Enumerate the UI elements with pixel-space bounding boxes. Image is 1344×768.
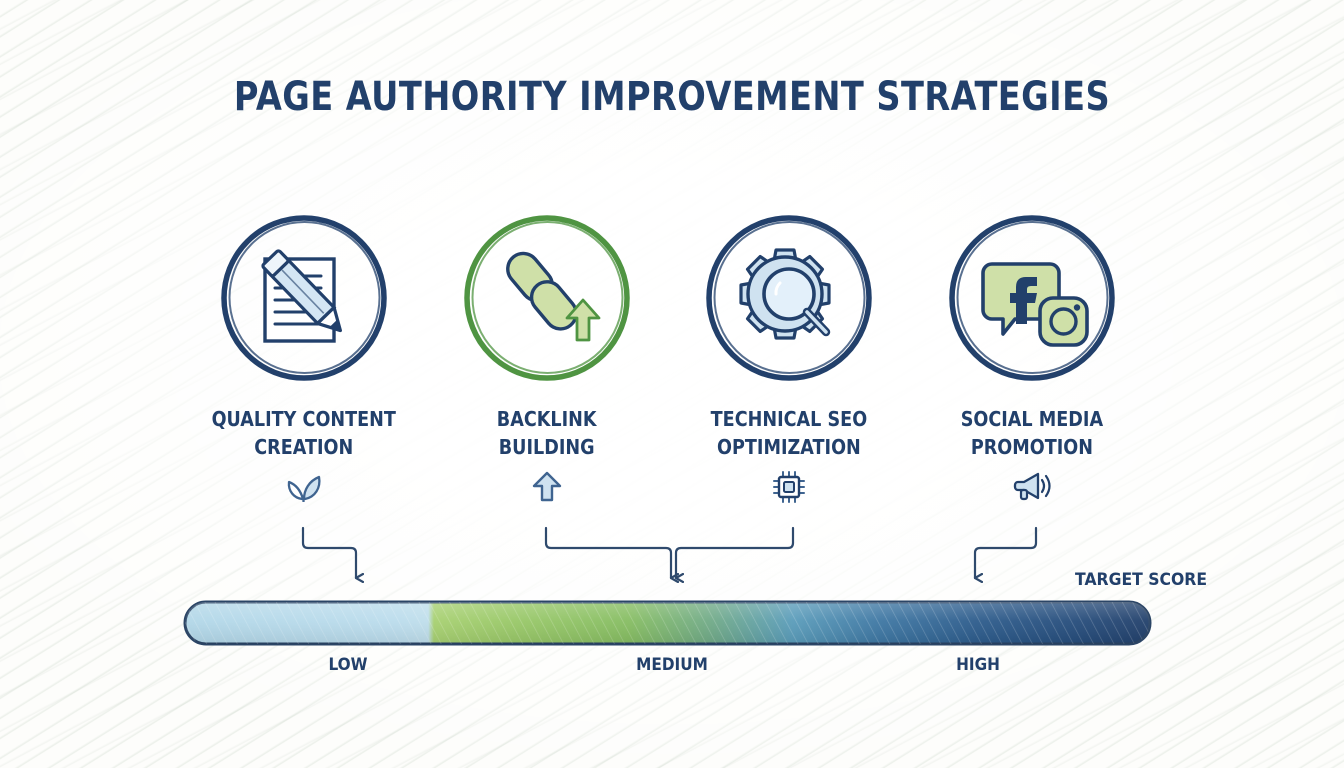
microchip-icon — [772, 470, 806, 504]
target-score-label: TARGET SCORE — [1075, 570, 1207, 590]
up-arrow-icon — [530, 470, 564, 502]
target-score-meter[interactable] — [183, 600, 1152, 646]
strategy-card-quality-content-creation[interactable]: QUALITY CONTENT CREATION — [183, 210, 425, 480]
strategy-card-social-media-promotion[interactable]: SOCIAL MEDIA PROMOTION — [911, 210, 1153, 480]
strategy-label: BACKLINK BUILDING — [497, 406, 597, 461]
strategy-card-row: QUALITY CONTENT CREATION — [183, 210, 1153, 480]
connector-social-media — [975, 528, 1036, 578]
strategy-label: SOCIAL MEDIA PROMOTION — [961, 406, 1103, 461]
document-pencil-icon — [216, 210, 392, 386]
social-bubble-icon — [944, 210, 1120, 386]
scale-label-low: LOW — [328, 655, 367, 675]
scale-label-medium: MEDIUM — [636, 655, 708, 675]
strategy-card-backlink-building[interactable]: BACKLINK BUILDING — [426, 210, 668, 480]
chain-link-icon — [459, 210, 635, 386]
leaf-sprout-icon — [284, 470, 324, 502]
scale-label-high: HIGH — [956, 655, 1000, 675]
page-title: PAGE AUTHORITY IMPROVEMENT STRATEGIES — [108, 74, 1237, 120]
strategy-card-technical-seo-optimization[interactable]: TECHNICAL SEO OPTIMIZATION — [668, 210, 910, 480]
infographic-canvas: PAGE AUTHORITY IMPROVEMENT STRATEGIES — [0, 0, 1344, 768]
strategy-label: QUALITY CONTENT CREATION — [212, 406, 396, 461]
connector-technical-seo — [676, 528, 793, 578]
gear-magnifier-icon — [701, 210, 877, 386]
megaphone-icon — [1012, 470, 1052, 502]
scale-label-row: LOW MEDIUM HIGH — [183, 655, 1152, 681]
connector-quality-content — [303, 528, 356, 578]
strategy-label: TECHNICAL SEO OPTIMIZATION — [711, 406, 868, 461]
connector-backlink-building — [546, 528, 671, 578]
